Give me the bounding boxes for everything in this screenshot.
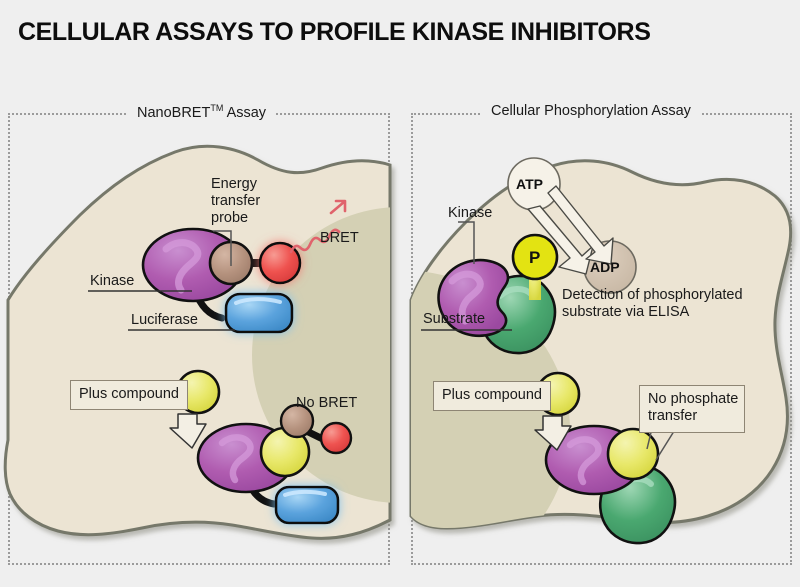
panel-caption-nanobret: NanoBRETTM Assay — [128, 103, 275, 121]
caption-text-nanobret: NanoBRET — [137, 105, 210, 121]
label-kinase-left: Kinase — [90, 273, 134, 290]
callout-plus-compound-right: Plus compound — [433, 381, 551, 411]
panel-caption-phosphorylation: Cellular Phosphorylation Assay — [482, 103, 700, 119]
label-kinase-right: Kinase — [448, 205, 492, 222]
callout-plus-compound-left: Plus compound — [70, 380, 188, 410]
label-energy-transfer-probe: Energy transfer probe — [211, 176, 260, 227]
label-luciferase: Luciferase — [131, 312, 198, 329]
panel-nanobret — [8, 113, 390, 565]
label-no-bret: No BRET — [296, 395, 357, 412]
page-title: CELLULAR ASSAYS TO PROFILE KINASE INHIBI… — [18, 18, 650, 47]
label-atp: ATP — [516, 176, 543, 192]
label-phosphate: P — [529, 248, 540, 268]
label-bret: BRET — [320, 230, 359, 247]
caption-suffix-nanobret: Assay — [223, 105, 266, 121]
label-substrate: Substrate — [423, 311, 485, 328]
diagram-canvas: CELLULAR ASSAYS TO PROFILE KINASE INHIBI… — [0, 0, 800, 587]
label-adp: ADP — [590, 259, 620, 275]
panel-phosphorylation — [411, 113, 792, 565]
trademark-mark: TM — [210, 103, 223, 113]
label-elisa-detection: Detection of phosphorylated substrate vi… — [562, 287, 743, 321]
callout-no-phosphate-transfer: No phosphate transfer — [639, 385, 745, 433]
